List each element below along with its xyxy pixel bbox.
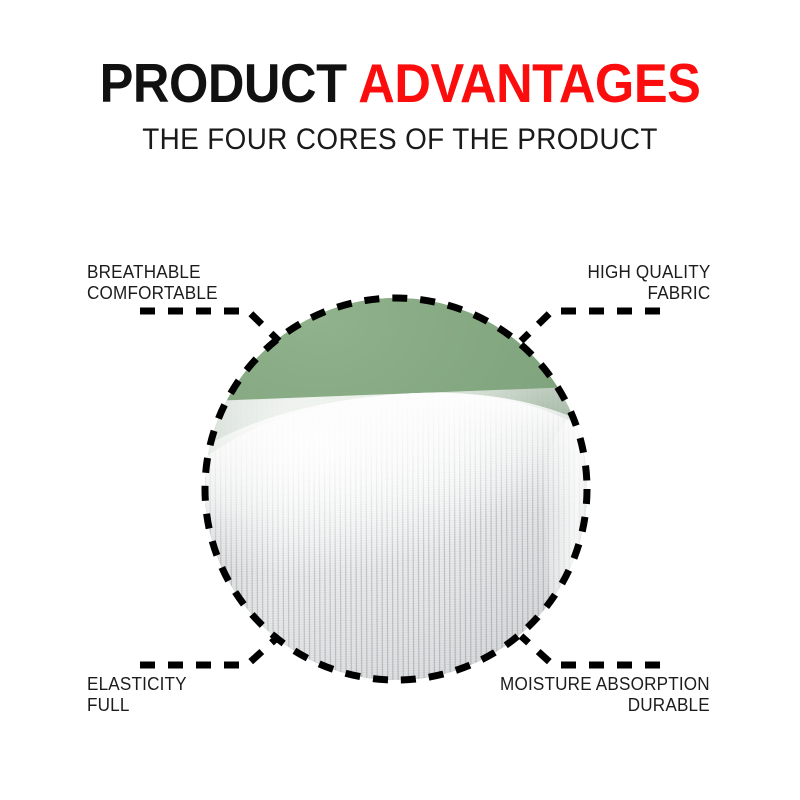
feature-breathable-line1: BREATHABLE — [87, 262, 201, 282]
feature-elasticity-line1: ELASTICITY — [87, 674, 187, 694]
feature-label-fabric: HIGH QUALITY FABRIC — [587, 262, 710, 304]
product-advantages-infographic: PRODUCT ADVANTAGES THE FOUR CORES OF THE… — [0, 0, 800, 800]
feature-label-moisture: MOISTURE ABSORPTION DURABLE — [500, 674, 710, 716]
feature-breathable-line2: COMFORTABLE — [87, 283, 218, 304]
product-photo — [205, 298, 587, 680]
feature-label-elasticity: ELASTICITY FULL — [87, 674, 187, 716]
page-title: PRODUCT ADVANTAGES — [32, 52, 768, 114]
page-subtitle: THE FOUR CORES OF THE PRODUCT — [28, 120, 772, 160]
feature-label-breathable: BREATHABLE COMFORTABLE — [87, 262, 218, 304]
fabric-photo-image — [205, 298, 587, 680]
feature-fabric-line2: FABRIC — [587, 283, 710, 304]
feature-fabric-line1: HIGH QUALITY — [587, 262, 710, 282]
feature-moisture-line2: DURABLE — [500, 695, 710, 716]
title-word-product: PRODUCT — [100, 52, 347, 114]
feature-elasticity-line2: FULL — [87, 695, 187, 716]
fabric-cloth — [205, 384, 587, 680]
feature-moisture-line1: MOISTURE ABSORPTION — [500, 674, 710, 694]
title-word-advantages: ADVANTAGES — [358, 52, 700, 114]
